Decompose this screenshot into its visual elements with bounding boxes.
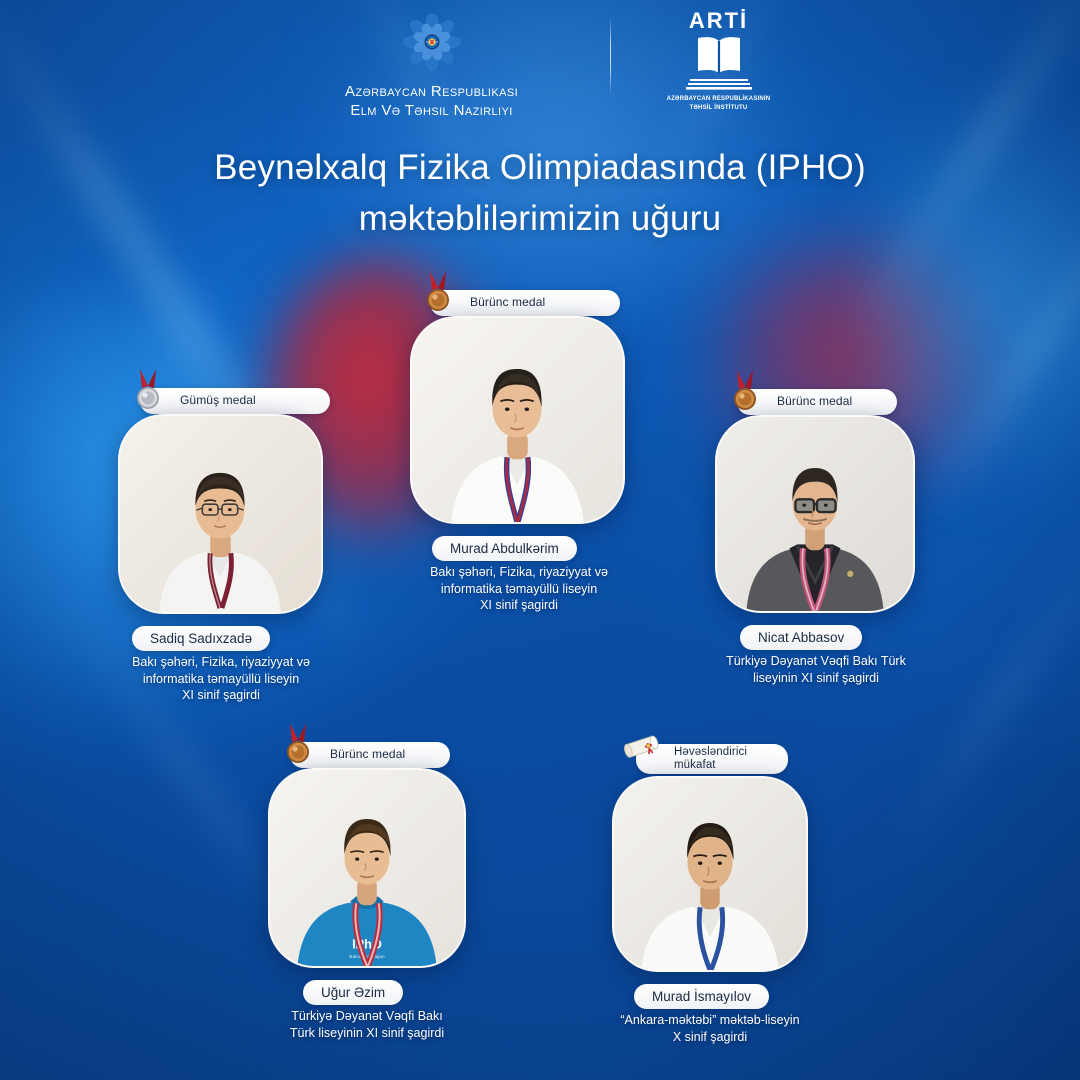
person-name-badge: Nicat Abbasov	[740, 625, 862, 650]
person-name-badge: Sadiq Sadıxzadə	[132, 626, 270, 651]
portrait-photo	[118, 414, 323, 614]
arti-logo-block: ARTİ AZƏRBAYCAN RESPUBLİKASININ TƏHSİL İ…	[639, 10, 799, 112]
person-name: Sadiq Sadıxzadə	[150, 631, 252, 646]
person-description: Türkiyə Dəyanət Vəqfi Bakı Türk liseyini…	[710, 653, 922, 686]
ministry-name-line2: Elm və Təhsil Nazirliyi	[350, 102, 512, 119]
award-label: Gümüş medal	[180, 394, 256, 407]
award-badge-bronze: Bürünc medal	[430, 290, 620, 316]
title-line-1: Beynəlxalq Fizika Olimpiadasında (IPHO)	[214, 148, 866, 187]
page-title: Beynəlxalq Fizika Olimpiadasında (IPHO) …	[0, 143, 1080, 245]
person-name: Uğur Əzim	[321, 985, 385, 1000]
award-label: Bürünc medal	[330, 748, 405, 761]
person-name-badge: Murad İsmayılov	[634, 984, 769, 1009]
arti-subtitle-line2: TƏHSİL İNSTİTUTU	[667, 104, 771, 113]
award-badge-silver: Gümüş medal	[140, 388, 330, 414]
award-label: Həvəsləndirici mükafat	[674, 746, 778, 772]
title-line-2: məktəblilərimizin uğuru	[0, 194, 1080, 245]
person-name-badge: Uğur Əzim	[303, 980, 403, 1005]
award-badge-bronze: Bürünc medal	[737, 389, 897, 415]
azerbaijan-ministry-emblem-icon	[399, 14, 465, 74]
person-name-badge: Murad Abdulkərim	[432, 536, 577, 561]
portrait-photo	[715, 415, 915, 613]
arti-base-lines-icon	[686, 79, 752, 91]
ministry-logo-block: Azərbaycan Respublikası Elm və Təhsil Na…	[282, 10, 582, 119]
person-name: Murad İsmayılov	[652, 989, 751, 1004]
award-badge-bronze: Bürünc medal	[290, 742, 450, 768]
portrait-photo: IPhO Baku Azerbaijan	[268, 768, 466, 968]
poster-canvas: Azərbaycan Respublikası Elm və Təhsil Na…	[0, 0, 1080, 1080]
award-label: Bürünc medal	[470, 296, 545, 309]
person-description: “Ankara-məktəbi” məktəb-liseyin X sinif …	[600, 1012, 820, 1045]
person-description: Bakı şəhəri, Fizika, riyaziyyat və infor…	[405, 564, 633, 614]
award-label: Bürünc medal	[777, 395, 852, 408]
person-description: Türkiyə Dəyanət Vəqfi Bakı Türk liseyini…	[258, 1008, 476, 1041]
portrait-photo	[410, 316, 625, 524]
header: Azərbaycan Respublikası Elm və Təhsil Na…	[0, 10, 1080, 119]
award-badge-certificate: Həvəsləndirici mükafat	[636, 744, 788, 774]
person-description: Bakı şəhəri, Fizika, riyaziyyat və infor…	[110, 654, 332, 704]
arti-subtitle-line1: AZƏRBAYCAN RESPUBLİKASININ	[667, 95, 771, 104]
ministry-name-line1: Azərbaycan Respublikası	[345, 83, 518, 100]
portrait-photo	[612, 776, 808, 972]
person-name: Nicat Abbasov	[758, 630, 844, 645]
arti-wordmark: ARTİ	[689, 10, 748, 32]
person-name: Murad Abdulkərim	[450, 541, 559, 556]
header-divider	[610, 18, 611, 94]
open-book-icon	[693, 34, 745, 76]
